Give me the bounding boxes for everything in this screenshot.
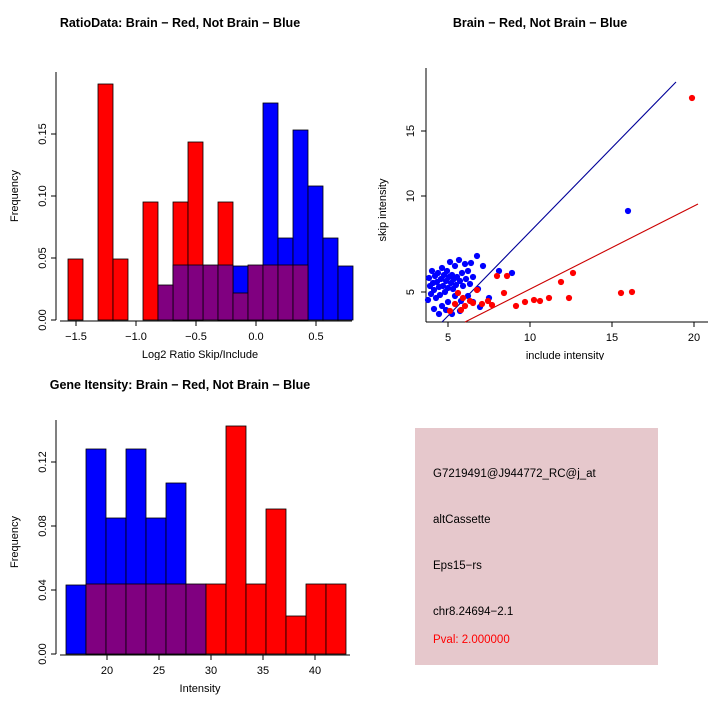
ratio-histogram-title: RatioData: Brain − Red, Not Brain − Blue [0, 16, 360, 30]
gene-bars-red [206, 426, 346, 654]
scatter-points-blue [425, 208, 631, 317]
svg-text:0.04: 0.04 [37, 579, 49, 600]
svg-text:0.0: 0.0 [248, 331, 263, 343]
pval-text: Pval: 2.000000 [433, 634, 510, 646]
svg-text:Frequency: Frequency [9, 170, 21, 222]
svg-text:0.05: 0.05 [37, 247, 49, 268]
svg-text:15: 15 [405, 125, 417, 137]
svg-text:0.10: 0.10 [37, 185, 49, 206]
svg-text:−0.5: −0.5 [185, 331, 207, 343]
scatter-blue-reference-line [442, 82, 676, 322]
svg-text:20: 20 [101, 665, 113, 677]
ratio-y-axis: 0.00 0.05 0.10 0.15 Frequency [9, 72, 56, 331]
svg-text:include intensity: include intensity [526, 350, 605, 360]
locus-text: chr8.24694−2.1 [433, 606, 513, 618]
svg-text:0.12: 0.12 [37, 451, 49, 472]
svg-text:25: 25 [153, 665, 165, 677]
scatter-points-red [447, 95, 695, 314]
svg-text:10: 10 [524, 332, 536, 344]
intensity-scatter-plot: 5 10 15 skip intensity 5 10 15 20 includ… [360, 30, 720, 360]
svg-text:5: 5 [405, 289, 417, 295]
gene-y-axis: 0.00 0.04 0.08 0.12 Frequency [9, 420, 56, 665]
svg-text:10: 10 [405, 190, 417, 202]
ratio-bars-overlap [158, 265, 308, 320]
svg-text:0.00: 0.00 [37, 309, 49, 330]
scatter-x-axis: 5 10 15 20 include intensity [426, 322, 708, 360]
gene-histogram-plot: 0.00 0.04 0.08 0.12 Frequency [0, 392, 360, 720]
svg-text:Intensity: Intensity [180, 683, 221, 695]
svg-text:−1.0: −1.0 [125, 331, 147, 343]
svg-text:20: 20 [688, 332, 700, 344]
scatter-y-axis: 5 10 15 skip intensity [377, 68, 426, 322]
gene-x-axis: 20 25 30 35 40 Intensity [60, 655, 350, 695]
scatter-title: Brain − Red, Not Brain − Blue [360, 16, 720, 30]
event-type-text: altCassette [433, 514, 491, 526]
svg-text:skip intensity: skip intensity [377, 178, 389, 241]
svg-text:0.08: 0.08 [37, 515, 49, 536]
panel-intensity-scatter: Brain − Red, Not Brain − Blue [360, 16, 720, 30]
gene-histogram-title: Gene Itensity: Brain − Red, Not Brain − … [0, 378, 360, 392]
panel-gene-histogram: Gene Itensity: Brain − Red, Not Brain − … [0, 378, 360, 392]
svg-text:35: 35 [257, 665, 269, 677]
gene-name-text: Eps15−rs [433, 560, 482, 572]
svg-text:15: 15 [606, 332, 618, 344]
svg-text:0.5: 0.5 [308, 331, 323, 343]
svg-text:40: 40 [309, 665, 321, 677]
svg-text:−1.5: −1.5 [65, 331, 87, 343]
svg-text:0.00: 0.00 [37, 643, 49, 664]
svg-text:30: 30 [205, 665, 217, 677]
ratio-histogram-plot: 0.00 0.05 0.10 0.15 Frequency [0, 30, 360, 360]
ratio-x-axis: −1.5 −1.0 −0.5 0.0 0.5 Log2 Ratio Skip/I… [60, 321, 352, 360]
probe-id-text: G7219491@J944772_RC@j_at [433, 468, 596, 480]
panel-ratio-histogram: RatioData: Brain − Red, Not Brain − Blue [0, 16, 360, 30]
svg-text:Frequency: Frequency [9, 516, 21, 568]
svg-text:Log2 Ratio Skip/Include: Log2 Ratio Skip/Include [142, 349, 258, 360]
figure-page: RatioData: Brain − Red, Not Brain − Blue… [0, 0, 720, 720]
annotation-box: G7219491@J944772_RC@j_at altCassette Eps… [415, 428, 658, 665]
svg-text:0.15: 0.15 [37, 123, 49, 144]
gene-bars-overlap [86, 584, 206, 654]
svg-text:5: 5 [445, 332, 451, 344]
